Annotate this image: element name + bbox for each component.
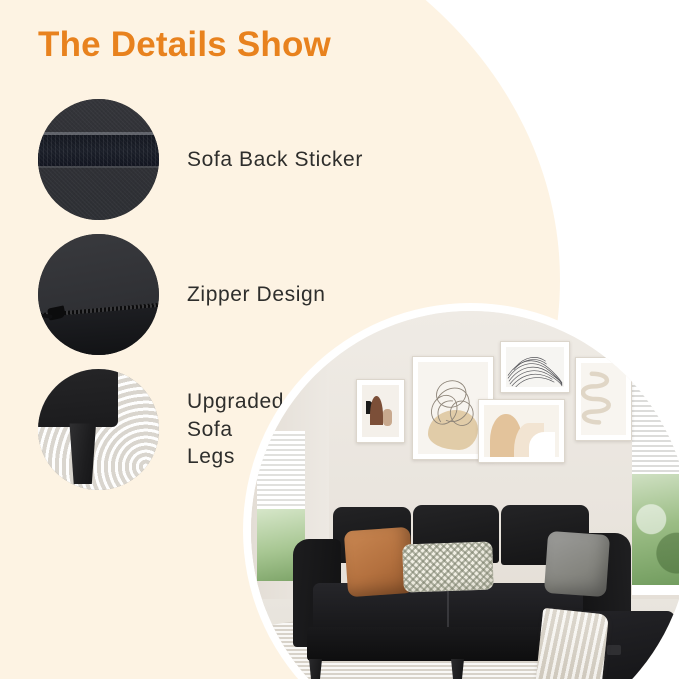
pillow-cream-patterned xyxy=(402,541,494,592)
zipper-design-thumbnail xyxy=(38,234,159,355)
upgraded-sofa-legs-thumbnail xyxy=(38,369,159,490)
fabric-texture-overlay xyxy=(38,99,159,220)
detail-row-upgraded-sofa-legs: Upgraded Sofa Legs xyxy=(38,369,284,490)
sofa-base-corner xyxy=(38,369,118,427)
sofa-leg xyxy=(69,423,96,484)
sofa-room-scene xyxy=(251,311,679,679)
detail-row-sofa-back-sticker: Sofa Back Sticker xyxy=(38,99,363,220)
pillow-grey xyxy=(544,531,610,597)
sofa-back-sticker-thumbnail xyxy=(38,99,159,220)
detail-label-zipper-design: Zipper Design xyxy=(187,281,326,309)
sofa-chaise-handle xyxy=(607,645,621,655)
room-scene xyxy=(251,311,679,679)
detail-label-sofa-back-sticker: Sofa Back Sticker xyxy=(187,146,363,174)
sofa-seat-seam xyxy=(447,585,449,631)
page-title: The Details Show xyxy=(38,24,331,66)
sofa-leg-front-middle xyxy=(451,659,464,679)
infographic-canvas: The Details Show Sofa Back Sticker Zippe… xyxy=(0,0,679,679)
throw-blanket xyxy=(531,608,609,679)
sofa-leg-front-left xyxy=(309,659,322,679)
sectional-sofa xyxy=(251,311,679,679)
